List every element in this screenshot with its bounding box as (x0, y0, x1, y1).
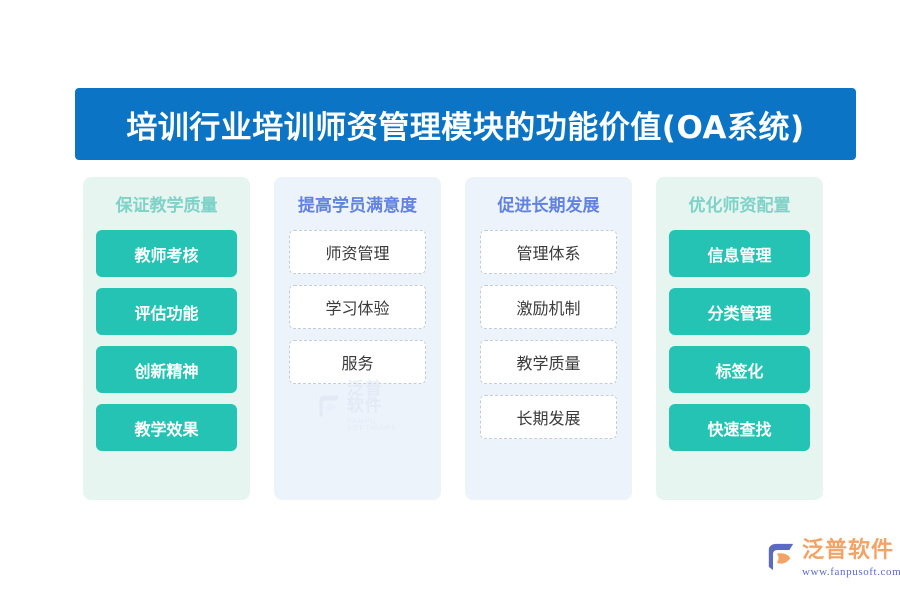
column-quality-assurance: 保证教学质量 教师考核 评估功能 创新精神 教学效果 (83, 177, 250, 500)
column-item-list: 教师考核 评估功能 创新精神 教学效果 (95, 230, 238, 451)
item-pill[interactable]: 教学效果 (96, 404, 237, 451)
fanpu-logo-icon (316, 394, 342, 420)
item-pill[interactable]: 评估功能 (96, 288, 237, 335)
diagram-canvas: 培训行业培训师资管理模块的功能价值(OA系统) 保证教学质量 教师考核 评估功能… (0, 0, 900, 600)
page-title-banner: 培训行业培训师资管理模块的功能价值(OA系统) (75, 88, 856, 160)
brand-name: 泛普软件 (802, 540, 900, 562)
brand-url: www.fanpusoft.com (802, 566, 900, 578)
item-pill[interactable]: 快速查找 (669, 404, 810, 451)
watermark-logo: 泛普软件 FANPU SOFTWARE (316, 381, 400, 432)
column-learner-satisfaction: 提高学员满意度 师资管理 学习体验 服务 泛普软件 FANPU SOFTWARE (274, 177, 441, 500)
column-long-term-growth: 促进长期发展 管理体系 激励机制 教学质量 长期发展 (465, 177, 632, 500)
column-item-list: 师资管理 学习体验 服务 (286, 230, 429, 384)
page-title: 培训行业培训师资管理模块的功能价值(OA系统) (126, 102, 804, 147)
brand-words: 泛普软件 www.fanpusoft.com (802, 540, 900, 578)
item-pill[interactable]: 师资管理 (289, 230, 426, 274)
column-title: 优化师资配置 (668, 191, 811, 216)
item-pill[interactable]: 管理体系 (480, 230, 617, 274)
column-title: 促进长期发展 (477, 191, 620, 216)
item-pill[interactable]: 长期发展 (480, 395, 617, 439)
item-pill[interactable]: 信息管理 (669, 230, 810, 277)
item-pill[interactable]: 激励机制 (480, 285, 617, 329)
column-title: 提高学员满意度 (286, 191, 429, 216)
fanpu-logo-icon (766, 542, 796, 572)
column-resource-optimization: 优化师资配置 信息管理 分类管理 标签化 快速查找 (656, 177, 823, 500)
item-pill[interactable]: 学习体验 (289, 285, 426, 329)
watermark-en: FANPU SOFTWARE (347, 418, 400, 432)
columns-container: 保证教学质量 教师考核 评估功能 创新精神 教学效果 提高学员满意度 师资管理 … (83, 177, 823, 500)
watermark-cn: 泛普软件 (347, 381, 400, 415)
item-pill[interactable]: 标签化 (669, 346, 810, 393)
column-title: 保证教学质量 (95, 191, 238, 216)
column-item-list: 信息管理 分类管理 标签化 快速查找 (668, 230, 811, 451)
item-pill[interactable]: 创新精神 (96, 346, 237, 393)
item-pill[interactable]: 教学质量 (480, 340, 617, 384)
item-pill[interactable]: 教师考核 (96, 230, 237, 277)
item-pill[interactable]: 服务 (289, 340, 426, 384)
brand-logo: 泛普软件 www.fanpusoft.com (766, 540, 900, 578)
column-item-list: 管理体系 激励机制 教学质量 长期发展 (477, 230, 620, 439)
item-pill[interactable]: 分类管理 (669, 288, 810, 335)
watermark-words: 泛普软件 FANPU SOFTWARE (347, 381, 400, 432)
